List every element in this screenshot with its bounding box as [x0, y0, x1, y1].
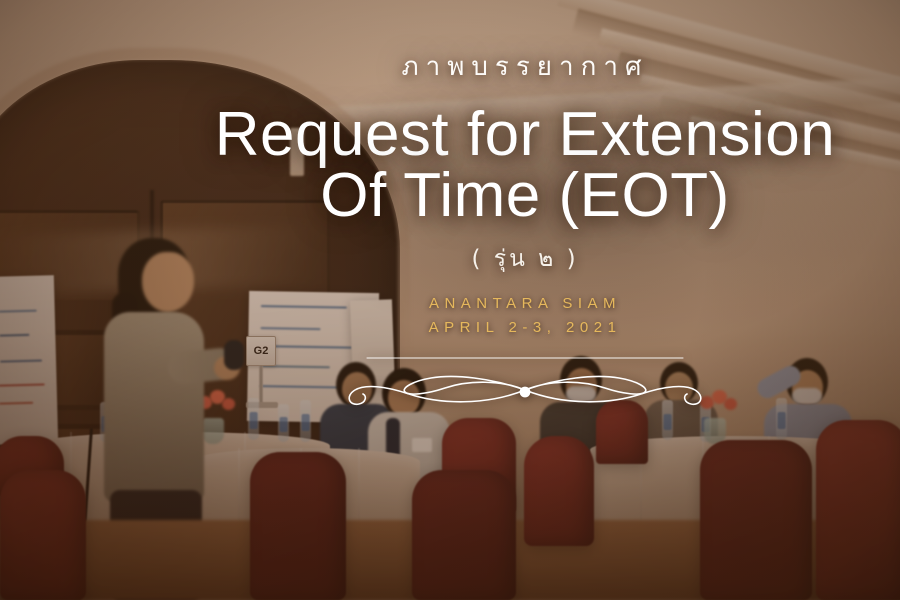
ornamental-flourish-divider-icon	[335, 350, 715, 410]
title-line-1: Request for Extension	[215, 100, 836, 169]
text-overlay: ภาพบรรยากาศ Request for Extension Of Tim…	[0, 0, 900, 600]
venue-date-block: ANANTARA SIAM APRIL 2-3, 2021	[429, 295, 622, 336]
event-dates: APRIL 2-3, 2021	[429, 319, 622, 336]
page-title: Request for Extension Of Time (EOT)	[215, 105, 836, 227]
venue-name: ANANTARA SIAM	[429, 295, 622, 312]
kicker-thai: ภาพบรรยากาศ	[402, 46, 649, 87]
subtitle-thai: ( รุ่น ๒ )	[471, 241, 578, 277]
title-line-2: Of Time (EOT)	[215, 166, 836, 227]
event-banner: G2	[0, 0, 900, 600]
